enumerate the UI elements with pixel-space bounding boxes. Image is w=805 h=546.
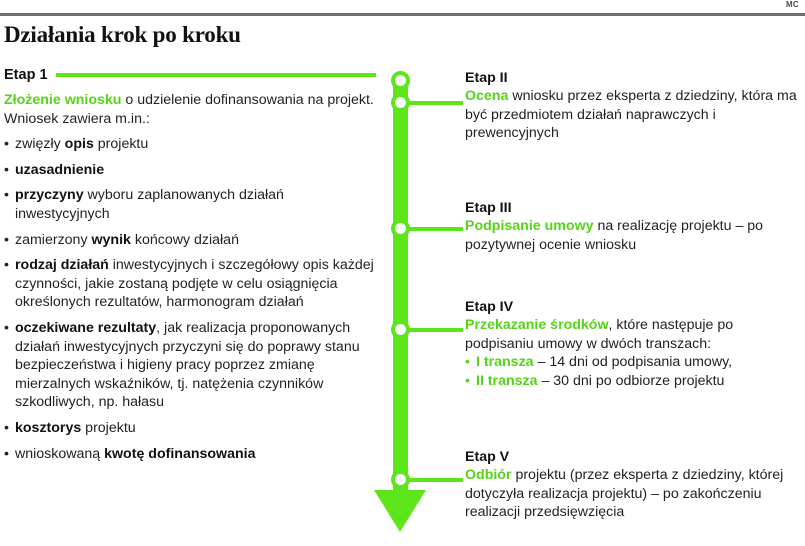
- bullet-text-lead: zwięzły: [15, 136, 65, 152]
- connector-etap-5: [409, 478, 463, 482]
- bullet-keyword: opis: [65, 136, 94, 152]
- etap-1-bullet-list: zwięzły opis projektuuzasadnienieprzyczy…: [4, 135, 376, 463]
- timeline-node-etap-2: [391, 93, 410, 112]
- list-item: uzasadnienie: [4, 161, 376, 180]
- tranche-list: I transza – 14 dni od podpisania umowy,I…: [465, 353, 801, 390]
- stage-block: Etap IIIPodpisanie umowy na realizację p…: [465, 200, 801, 254]
- connector-etap-4: [409, 328, 463, 332]
- tranche-name: I transza: [476, 354, 534, 370]
- bullet-text-pre: zamierzony: [15, 232, 91, 248]
- infographic-root: MC Działania krok po kroku Etap 1 Złożen…: [0, 0, 805, 546]
- stage-highlight: Przekazanie środków: [465, 317, 609, 333]
- timeline-arrowhead-icon: [374, 490, 426, 532]
- stage-label: Etap II: [465, 70, 801, 86]
- connector-etap-3: [409, 227, 463, 231]
- list-item: rodzaj działań inwestycyjnych i szczegół…: [4, 256, 376, 312]
- connector-etap-2: [409, 101, 463, 105]
- stage-description: Podpisanie umowy na realizację projektu …: [465, 217, 801, 254]
- stage-label: Etap III: [465, 200, 801, 216]
- bullet-keyword: uzasadnienie: [15, 162, 104, 178]
- etap-1-lead: Złożenie wniosku o udzielenie dofinansow…: [4, 91, 376, 128]
- tranche-item: I transza – 14 dni od podpisania umowy,: [465, 353, 801, 372]
- etap-1-header: Etap 1: [4, 66, 376, 84]
- tranche-detail: – 30 dni po odbiorze projektu: [538, 373, 725, 389]
- list-item: zwięzły opis projektu: [4, 135, 376, 154]
- stage-label: Etap V: [465, 449, 801, 465]
- credit-label: MC: [786, 0, 799, 9]
- bullet-keyword: przyczyny: [15, 187, 84, 203]
- stage-description: Ocena wniosku przez eksperta z dziedziny…: [465, 87, 801, 143]
- bullet-text-pre: wnioskowaną: [15, 446, 104, 462]
- stage-highlight: Ocena: [465, 88, 508, 104]
- timeline-node-etap-5: [391, 470, 410, 489]
- bullet-keyword: kosztorys: [15, 420, 81, 436]
- tranche-detail: – 14 dni od podpisania umowy,: [534, 354, 733, 370]
- page-title: Działania krok po kroku: [4, 22, 241, 48]
- stage-block: Etap VOdbiór projektu (przez eksperta z …: [465, 449, 801, 522]
- list-item: przyczyny wyboru zaplanowanych działań i…: [4, 186, 376, 223]
- timeline-node-etap-3: [391, 219, 410, 238]
- bullet-keyword: rodzaj działań: [15, 257, 109, 273]
- tranche-name: II transza: [476, 373, 538, 389]
- list-item: wnioskowaną kwotę dofinansowania: [4, 445, 376, 464]
- left-column: Etap 1 Złożenie wniosku o udzielenie dof…: [4, 66, 376, 470]
- list-item: kosztorys projektu: [4, 419, 376, 438]
- list-item: zamierzony wynik końcowy działań: [4, 231, 376, 250]
- stage-label: Etap IV: [465, 299, 801, 315]
- top-divider: [0, 13, 805, 16]
- stage-body: wniosku przez eksperta z dziedziny, któr…: [465, 88, 797, 141]
- bullet-keyword: kwotę dofinansowania: [104, 446, 255, 462]
- stage-body: projektu (przez eksperta z dziedziny, kt…: [465, 467, 783, 520]
- bullet-keyword: oczekiwane rezultaty: [15, 320, 156, 336]
- stage-block: Etap IIOcena wniosku przez eksperta z dz…: [465, 70, 801, 143]
- bullet-text-rest: projektu: [94, 136, 148, 152]
- bullet-text-rest: końcowy działań: [131, 232, 239, 248]
- bullet-text-rest: projektu: [81, 420, 135, 436]
- stage-block: Etap IVPrzekazanie środków, które następ…: [465, 299, 801, 390]
- bullet-keyword: wynik: [91, 232, 130, 248]
- stage-description: Przekazanie środków, które następuje po …: [465, 316, 801, 353]
- timeline-node-etap-1: [391, 71, 410, 90]
- etap-1-highlight: Złożenie wniosku: [4, 92, 121, 108]
- tranche-item: II transza – 30 dni po odbiorze projektu: [465, 372, 801, 391]
- list-item: oczekiwane rezultaty, jak realizacja pro…: [4, 319, 376, 412]
- stage-highlight: Podpisanie umowy: [465, 218, 594, 234]
- stage-description: Odbiór projektu (przez eksperta z dziedz…: [465, 466, 801, 522]
- timeline-spine: [393, 79, 408, 499]
- etap-1-rule: [56, 73, 376, 77]
- etap-1-label: Etap 1: [4, 67, 48, 83]
- timeline-node-etap-4: [391, 320, 410, 339]
- stage-highlight: Odbiór: [465, 467, 512, 483]
